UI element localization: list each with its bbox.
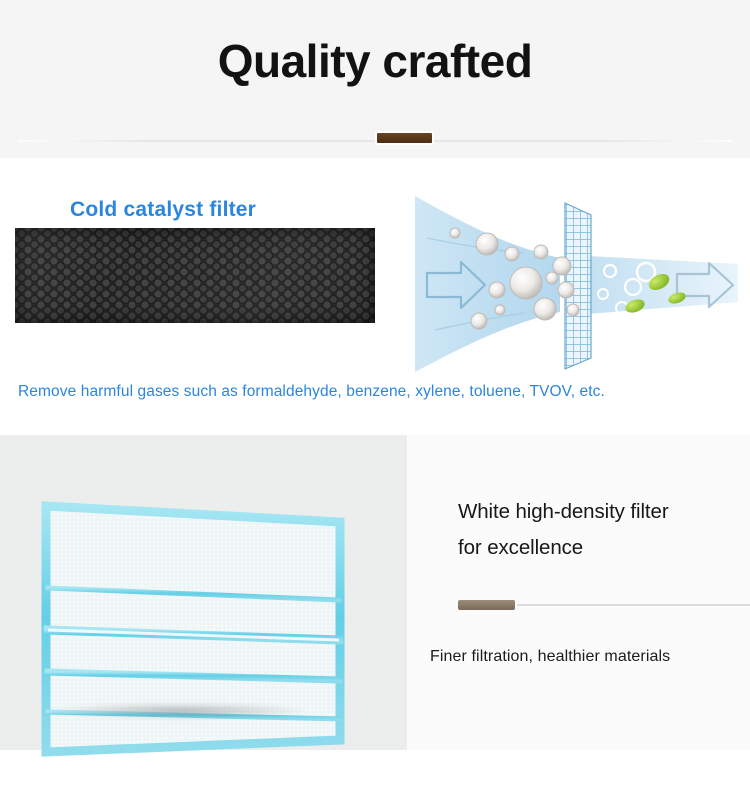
filter-drop-shadow [55,703,305,719]
product-detail-page: Quality crafted Cold catalyst filter Rem… [0,0,750,750]
header-divider [18,140,732,142]
cold-catalyst-caption: Remove harmful gases such as formaldehyd… [18,383,605,401]
airflow-diagram-svg [405,190,745,375]
white-filter-caption: Finer filtration, healthier materials [430,648,670,666]
white-filter-title-line1: White high-density filter [458,494,748,530]
white-high-density-filter-panel [40,500,370,730]
white-filter-image-panel [0,435,407,750]
cold-catalyst-honeycomb-panel [15,228,375,323]
white-filter-svg [40,500,370,790]
airflow-filtration-diagram [405,190,745,375]
white-filter-title: White high-density filter for excellence [458,494,748,566]
white-filter-text-panel [407,435,750,750]
page-title: Quality crafted [0,34,750,88]
header-accent-bar [377,133,432,143]
header-banner: Quality crafted [0,0,750,158]
cold-catalyst-title: Cold catalyst filter [70,198,256,222]
cold-catalyst-section: Cold catalyst filter Remove harmful gase… [0,158,750,435]
white-filter-accent-bar [458,600,515,610]
white-filter-title-line2: for excellence [458,530,748,566]
